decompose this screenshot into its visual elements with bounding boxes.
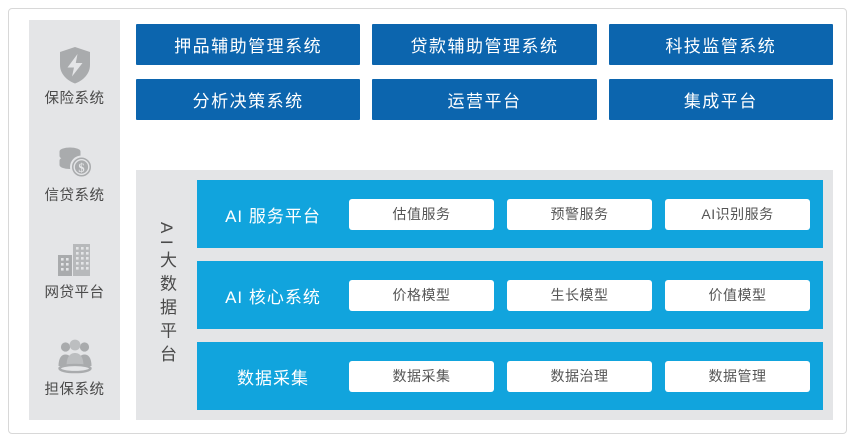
system-bar-integration-platform[interactable]: 集成平台 [609,79,833,120]
sidebar-item-insurance[interactable]: 保险系统 [29,26,120,123]
coins-dollar-icon: $ [53,140,97,184]
layer-title: AI 核心系统 [197,283,349,308]
chip-data-governance[interactable]: 数据治理 [507,361,652,392]
system-bar-loan-management[interactable]: 贷款辅助管理系统 [372,24,596,65]
people-group-icon [53,334,97,378]
sidebar-systems-panel: 保险系统 $ 信贷系统 [29,20,120,420]
top-systems-row-1: 押品辅助管理系统 贷款辅助管理系统 科技监管系统 [136,24,833,65]
sidebar-item-online-loan[interactable]: 网贷平台 [29,220,120,317]
chip-valuation-service[interactable]: 估值服务 [349,199,494,230]
chip-data-management[interactable]: 数据管理 [665,361,810,392]
platform-layer-data-collection: 数据采集 数据采集 数据治理 数据管理 [197,342,823,410]
sidebar-item-label: 担保系统 [45,383,105,398]
system-bar-operations-platform[interactable]: 运营平台 [372,79,596,120]
sidebar-item-credit[interactable]: $ 信贷系统 [29,123,120,220]
system-bar-tech-supervision[interactable]: 科技监管系统 [609,24,833,65]
svg-text:$: $ [78,161,84,175]
chip-value-model[interactable]: 价值模型 [665,280,810,311]
ai-bigdata-platform-panel: AI大数据平台 AI 服务平台 估值服务 预警服务 AI识别服务 AI 核心系统… [136,170,833,420]
layer-title: 数据采集 [197,364,349,389]
layer-title: AI 服务平台 [197,202,349,227]
platform-layers: AI 服务平台 估值服务 预警服务 AI识别服务 AI 核心系统 价格模型 生长… [197,180,823,410]
layer-chip-group: 数据采集 数据治理 数据管理 [349,361,810,392]
buildings-icon [53,237,97,281]
sidebar-item-guarantee[interactable]: 担保系统 [29,317,120,414]
sidebar-item-label: 信贷系统 [45,189,105,204]
layer-chip-group: 估值服务 预警服务 AI识别服务 [349,199,810,230]
system-bar-collateral-management[interactable]: 押品辅助管理系统 [136,24,360,65]
sidebar-item-label: 网贷平台 [45,286,105,301]
top-systems-area: 押品辅助管理系统 贷款辅助管理系统 科技监管系统 分析决策系统 运营平台 集成平… [136,24,833,134]
system-bar-analysis-decision[interactable]: 分析决策系统 [136,79,360,120]
platform-vertical-label-text: AI大数据平台 [158,189,175,401]
chip-price-model[interactable]: 价格模型 [349,280,494,311]
sidebar-item-label: 保险系统 [45,92,105,107]
platform-layer-ai-service: AI 服务平台 估值服务 预警服务 AI识别服务 [197,180,823,248]
architecture-diagram: 保险系统 $ 信贷系统 [0,0,857,444]
chip-ai-recognition-service[interactable]: AI识别服务 [665,199,810,230]
top-systems-row-2: 分析决策系统 运营平台 集成平台 [136,79,833,120]
platform-layer-ai-core: AI 核心系统 价格模型 生长模型 价值模型 [197,261,823,329]
layer-chip-group: 价格模型 生长模型 价值模型 [349,280,810,311]
chip-data-collection[interactable]: 数据采集 [349,361,494,392]
shield-bolt-icon [53,43,97,87]
chip-alert-service[interactable]: 预警服务 [507,199,652,230]
chip-growth-model[interactable]: 生长模型 [507,280,652,311]
platform-vertical-label: AI大数据平台 [136,180,197,410]
